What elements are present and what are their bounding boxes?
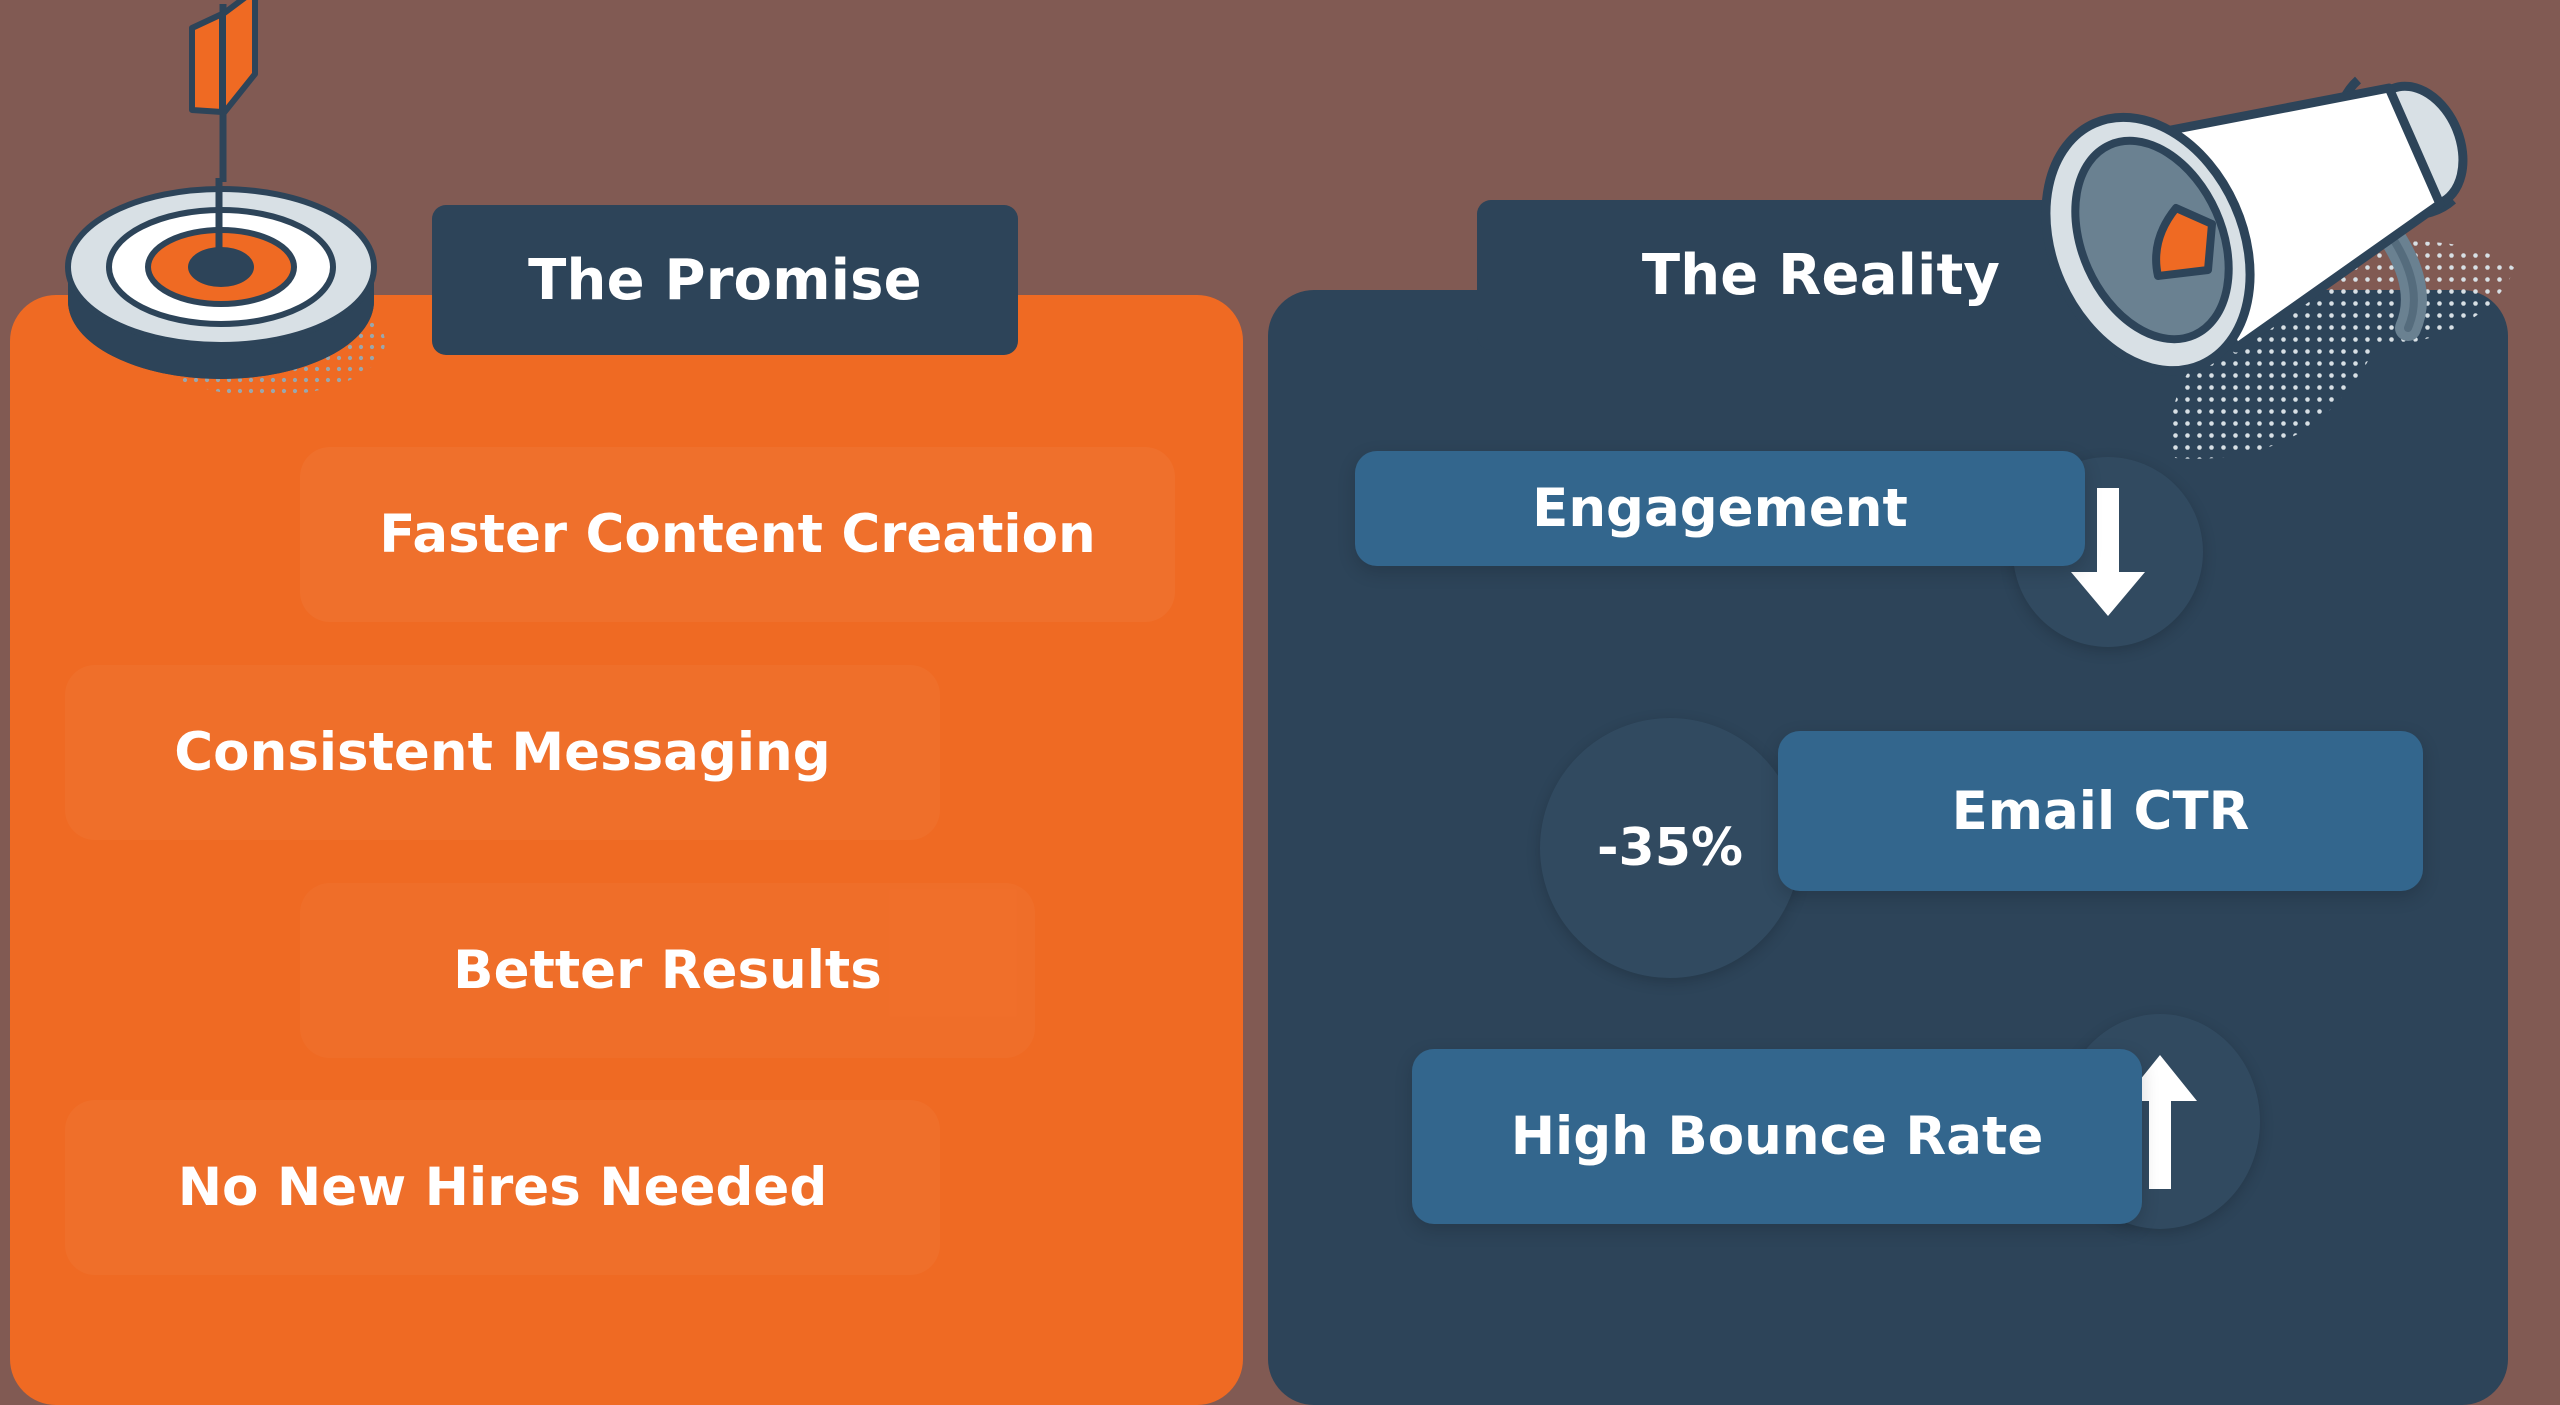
promise-item-label: Faster Content Creation [300, 504, 1175, 565]
reality-header-label: The Reality [1642, 243, 2000, 308]
megaphone-icon [2040, 48, 2560, 468]
slide-canvas: Faster Content Creation Consistent Messa… [0, 0, 2560, 1397]
promise-header-label: The Promise [528, 248, 922, 313]
metric-bar-bounce-rate[interactable]: High Bounce Rate [1412, 1049, 2142, 1224]
metric-label: High Bounce Rate [1412, 1106, 2142, 1167]
target-dart-icon [50, 0, 430, 437]
promise-item-label: Consistent Messaging [65, 722, 940, 783]
metric-bar-engagement[interactable]: Engagement [1355, 451, 2085, 566]
promise-item-card[interactable]: Faster Content Creation [300, 447, 1175, 622]
promise-header: The Promise [432, 205, 1018, 355]
promise-item-card[interactable]: Better Results [300, 883, 1035, 1058]
metric-bar-email-ctr[interactable]: Email CTR [1778, 731, 2423, 891]
metric-label: Engagement [1355, 478, 2085, 539]
promise-item-label: Better Results [300, 940, 1035, 1001]
promise-item-card[interactable]: Consistent Messaging [65, 665, 940, 840]
promise-item-card[interactable]: No New Hires Needed [65, 1100, 940, 1275]
metric-badge-value: -35% [1597, 818, 1743, 878]
promise-item-label: No New Hires Needed [65, 1157, 940, 1218]
metric-label: Email CTR [1778, 781, 2423, 842]
email-ctr-badge-circle: -35% [1540, 718, 1800, 978]
